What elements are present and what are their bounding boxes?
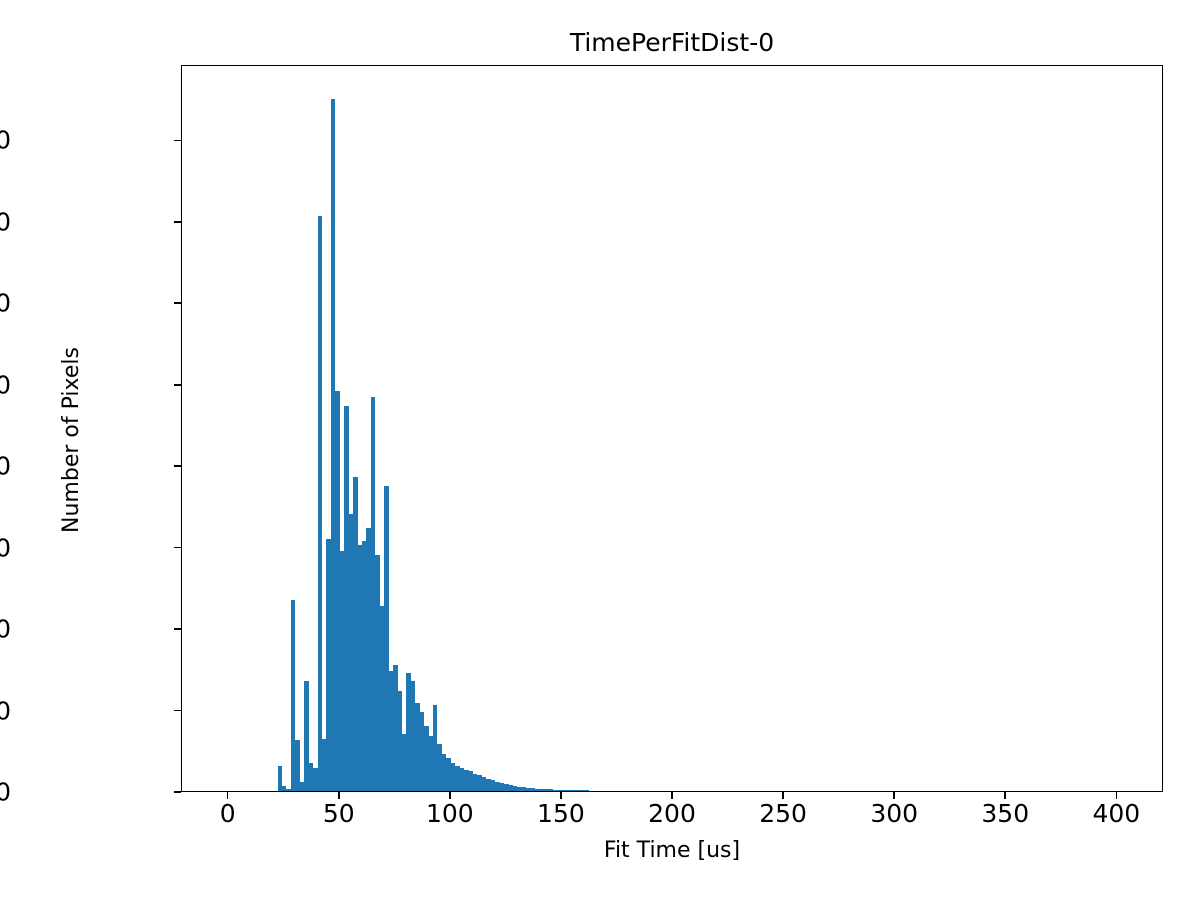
x-axis-tick-label: 150 — [501, 800, 621, 828]
y-axis-tick-label: 8000 — [0, 454, 11, 479]
y-axis-tick-mark — [174, 791, 181, 793]
x-axis-tick-mark — [1116, 792, 1118, 799]
x-axis-tick-mark — [449, 792, 451, 799]
x-axis-tick-mark — [338, 792, 340, 799]
x-axis-tick-label: 400 — [1056, 800, 1176, 828]
y-axis-tick-label: 4000 — [0, 617, 11, 642]
x-axis-tick-mark — [893, 792, 895, 799]
y-axis-tick-label: 16000 — [0, 128, 11, 153]
x-axis-tick-label: 0 — [168, 800, 288, 828]
y-axis-tick-label: 6000 — [0, 535, 11, 560]
y-axis-tick-mark — [174, 384, 181, 386]
histogram-bar — [318, 216, 322, 791]
y-axis-tick-label: 2000 — [0, 698, 11, 723]
matplotlib-figure: TimePerFitDist-0 Number of Pixels Fit Ti… — [0, 0, 1200, 900]
y-axis-tick-label: 0 — [0, 780, 11, 805]
x-axis-tick-label: 100 — [390, 800, 510, 828]
y-axis-label: Number of Pixels — [60, 290, 84, 590]
y-axis-tick-label: 10000 — [0, 372, 11, 397]
y-axis-tick-mark — [174, 140, 181, 142]
y-axis-tick-mark — [174, 302, 181, 304]
y-axis-tick-mark — [174, 221, 181, 223]
page-title: TimePerFitDist-0 — [181, 28, 1163, 58]
histogram-bars — [182, 66, 1162, 791]
y-axis-tick-label: 14000 — [0, 209, 11, 234]
x-axis-tick-label: 50 — [279, 800, 399, 828]
x-axis-tick-mark — [1004, 792, 1006, 799]
y-axis-tick-mark — [174, 547, 181, 549]
x-axis-tick-mark — [227, 792, 229, 799]
y-axis-tick-mark — [174, 465, 181, 467]
x-axis-tick-label: 300 — [834, 800, 954, 828]
histogram-bar — [584, 790, 588, 791]
x-axis-tick-mark — [782, 792, 784, 799]
y-axis-tick-mark — [174, 710, 181, 712]
x-axis-tick-label: 200 — [612, 800, 732, 828]
plot-area — [181, 65, 1163, 792]
y-axis-tick-mark — [174, 628, 181, 630]
x-axis-tick-label: 250 — [723, 800, 843, 828]
x-axis-label: Fit Time [us] — [181, 838, 1163, 864]
x-axis-tick-mark — [560, 792, 562, 799]
y-axis-tick-label: 12000 — [0, 291, 11, 316]
x-axis-tick-label: 350 — [945, 800, 1065, 828]
x-axis-tick-mark — [671, 792, 673, 799]
